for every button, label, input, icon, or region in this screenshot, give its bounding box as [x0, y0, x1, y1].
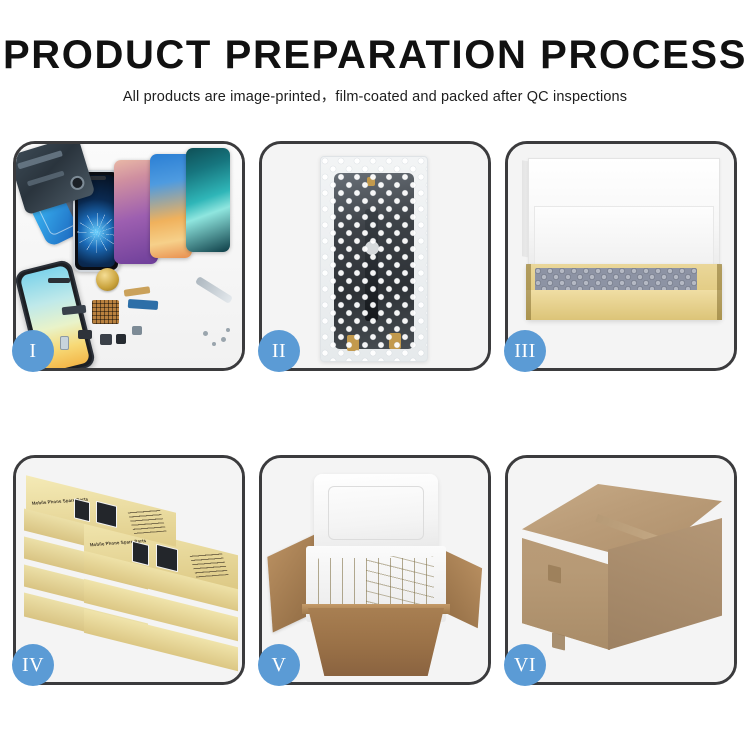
- housing-strip-secondary: [27, 171, 65, 187]
- camera-lens-icon: [69, 174, 86, 191]
- product-window: [132, 541, 149, 566]
- component-block-1: [78, 330, 92, 339]
- step-2-image: [262, 144, 488, 368]
- phone-teal-icon: [186, 148, 230, 252]
- carton-front-panel: [308, 608, 444, 676]
- screw-icon: [221, 337, 226, 342]
- step-badge-3: III: [504, 330, 546, 372]
- page-subtitle: All products are image-printed，film-coat…: [0, 85, 750, 106]
- process-step-2: II: [259, 141, 491, 371]
- infographic-page: PRODUCT PREPARATION PROCESS All products…: [0, 0, 750, 750]
- retail-box-stack: Mobile Phone Spare Parts Mobile Phone Sp…: [22, 472, 242, 674]
- housing-strip: [17, 150, 63, 169]
- product-window: [156, 544, 178, 572]
- carton-left-panel: [522, 538, 610, 650]
- process-step-grid: I II: [13, 141, 737, 691]
- process-step-6: VI: [505, 455, 737, 685]
- process-step-3: III: [505, 141, 737, 371]
- step-badge-1: I: [12, 330, 54, 372]
- kraft-box-edge-left: [526, 264, 531, 320]
- screw-icon: [212, 342, 216, 346]
- step-badge-2: II: [258, 330, 300, 372]
- foam-sheet: [534, 206, 714, 270]
- page-header: PRODUCT PREPARATION PROCESS All products…: [0, 34, 750, 106]
- component-block-3: [116, 334, 126, 344]
- product-window: [96, 501, 117, 528]
- gold-coil-icon: [96, 268, 119, 291]
- bubble-wrap-bag: [320, 156, 428, 362]
- process-step-4: Mobile Phone Spare Parts Mobile Phone Sp…: [13, 455, 245, 685]
- carton-hand-hole: [548, 564, 561, 583]
- step-badge-6: VI: [504, 644, 546, 686]
- kraft-box-front: [526, 290, 722, 320]
- step-badge-5: V: [258, 644, 300, 686]
- spec-text-lines: [127, 509, 166, 534]
- step-3-image: [508, 144, 734, 368]
- antenna-bar-icon: [48, 278, 70, 283]
- page-title: PRODUCT PREPARATION PROCESS: [0, 34, 750, 76]
- component-block-2: [100, 334, 112, 345]
- step-1-image: [16, 144, 242, 368]
- bubble-texture: [321, 157, 427, 361]
- step-5-image: [262, 458, 488, 682]
- step-badge-4: IV: [12, 644, 54, 686]
- spec-text-lines: [189, 552, 228, 577]
- screw-icon: [226, 328, 230, 332]
- process-step-5: V: [259, 455, 491, 685]
- process-step-1: I: [13, 141, 245, 371]
- chip-grid-icon: [92, 300, 119, 324]
- carton-hand-hole: [552, 632, 565, 650]
- screw-icon: [203, 331, 208, 336]
- kraft-box-edge-right: [717, 264, 722, 320]
- screen-burst-graphic: [77, 213, 117, 253]
- product-window: [74, 498, 90, 522]
- step-6-image: [508, 458, 734, 682]
- component-block-4: [132, 326, 142, 335]
- battery-connector-icon: [60, 336, 69, 350]
- step-4-image: Mobile Phone Spare Parts Mobile Phone Sp…: [16, 458, 242, 682]
